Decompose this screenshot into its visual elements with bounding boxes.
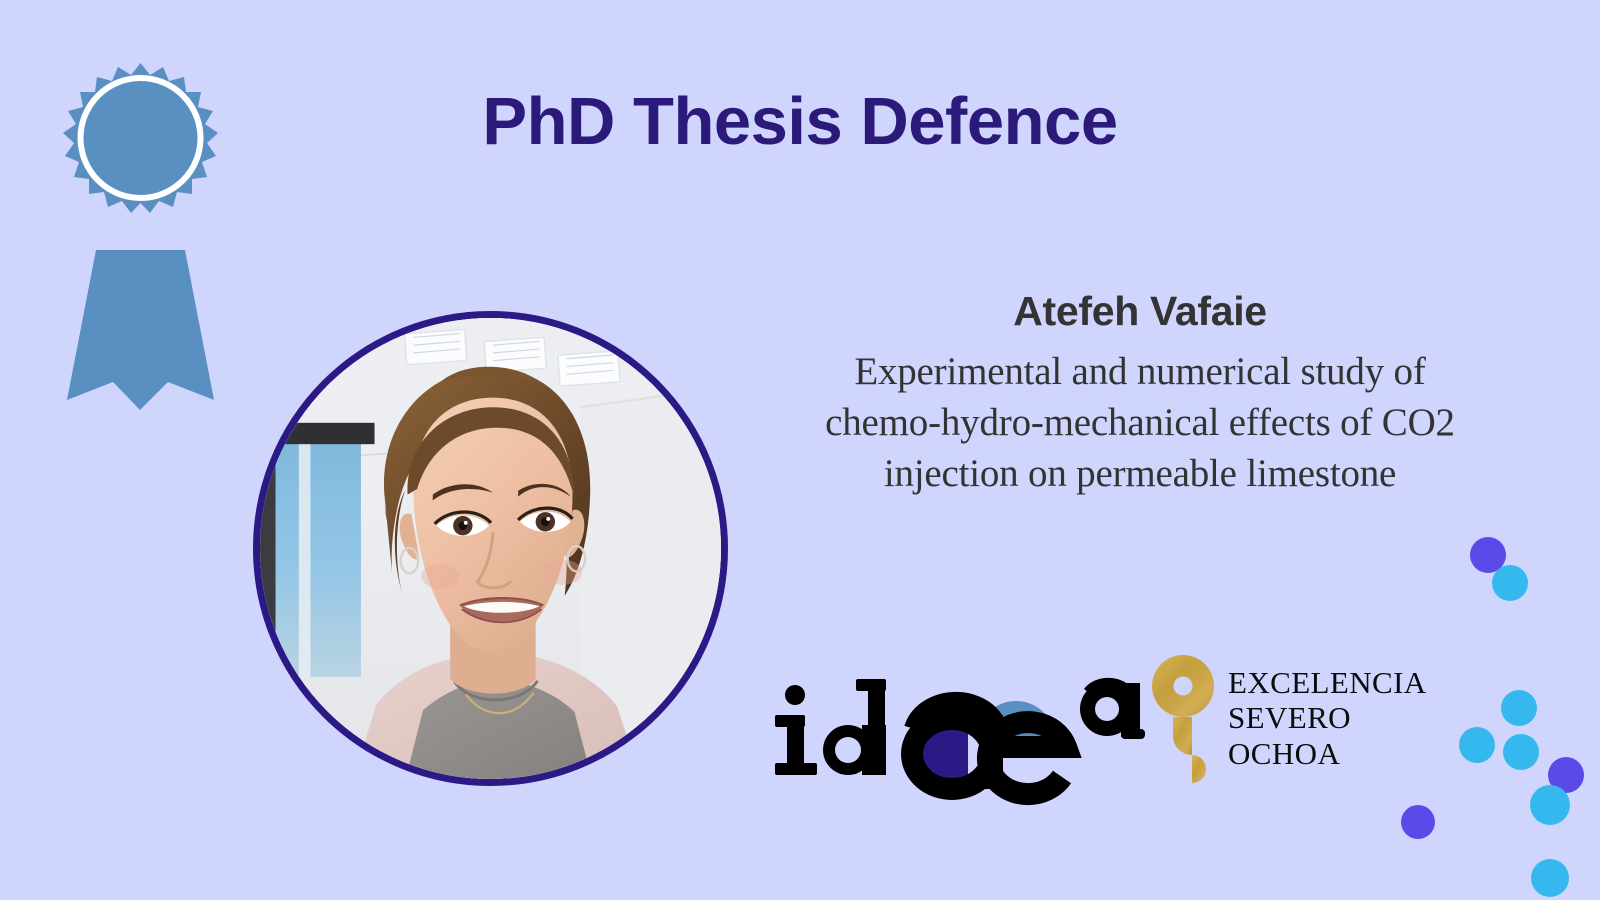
confetti-dot [1401,805,1435,839]
award-ribbon-icon [38,55,243,410]
avatar [253,311,728,786]
confetti-dot [1530,785,1570,825]
severo-ochoa-wordmark: EXCELENCIA SEVERO OCHOA [1228,665,1427,770]
speaker-name: Atefeh Vafaie [740,288,1540,335]
confetti-dot [1501,690,1537,726]
thesis-title-line-1: Experimental and numerical study of [740,347,1540,398]
poster-canvas: PhD Thesis Defence [0,0,1600,900]
page-title: PhD Thesis Defence [300,88,1300,155]
confetti-dot [1531,859,1569,897]
confetti-dot [1470,537,1506,573]
confetti-dot [1548,757,1584,793]
severo-ochoa-logo: EXCELENCIA SEVERO OCHOA [1152,648,1420,788]
severo-line-3: OCHOA [1228,736,1427,771]
confetti-dot [1459,727,1495,763]
thesis-title-line-2: chemo-hydro-mechanical effects of CO2 [740,398,1540,449]
thesis-title-line-3: injection on permeable limestone [740,449,1540,500]
speaker-info: Atefeh Vafaie Experimental and numerical… [740,288,1540,499]
idaea-logo [762,637,1147,812]
confetti-dot [1492,565,1528,601]
severo-ochoa-key-icon [1152,653,1214,783]
severo-line-1: EXCELENCIA [1228,665,1427,700]
thesis-title: Experimental and numerical study of chem… [740,347,1540,499]
confetti-dot [1503,734,1539,770]
severo-line-2: SEVERO [1228,700,1427,735]
